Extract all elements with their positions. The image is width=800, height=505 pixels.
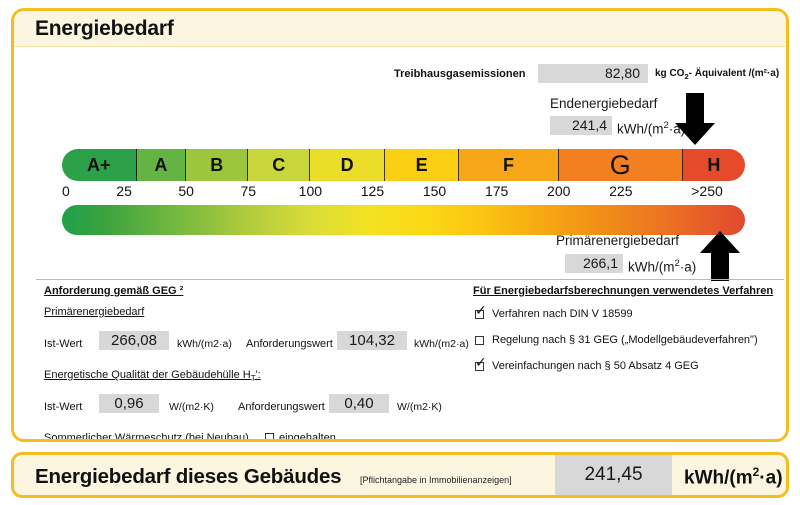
method-checkbox-1[interactable]: ✓ <box>475 310 484 319</box>
summary-value: 241,45 <box>555 455 672 495</box>
primary-energy-subheading: Primärenergiebedarf <box>44 306 144 318</box>
scale-band-letter: G <box>610 152 631 179</box>
method-option-label-1: Verfahren nach DIN V 18599 <box>492 308 633 320</box>
scale-band-letter: H <box>707 156 720 174</box>
scale-band-letter: A <box>154 156 167 174</box>
summary-title: Energiebedarf dieses Gebäudes <box>35 465 341 489</box>
envelope-actual-value: 0,96 <box>99 394 159 413</box>
primaerenergiebedarf-unit: kWh/(m2·a) <box>628 254 696 277</box>
page-title: Energiebedarf <box>35 17 174 41</box>
method-option-label-2: Regelung nach § 31 GEG („Modellgebäudeve… <box>492 334 758 346</box>
envelope-subheading-tail: ': <box>256 369 261 381</box>
arrow-up-icon <box>700 231 740 281</box>
summary-unit-main: kWh/(m <box>684 467 753 488</box>
scale-band-f: F <box>459 149 558 181</box>
envelope-actual-unit: W/(m2·K) <box>169 401 214 413</box>
method-option-label-3: Vereinfachungen nach § 50 Absatz 4 GEG <box>492 360 699 372</box>
scale-band-letter: C <box>272 156 285 174</box>
scale-band-letter: A+ <box>87 156 111 174</box>
scale-band-a: A <box>137 149 187 181</box>
ghg-unit-prefix: kg CO <box>655 68 684 79</box>
tick-label: 225 <box>609 183 632 199</box>
primary-actual-value: 266,08 <box>99 331 169 350</box>
envelope-subheading: Energetische Qualität der Gebäudehülle H… <box>44 369 261 383</box>
scale-band-letter: B <box>210 156 223 174</box>
summary-panel: Energiebedarf dieses Gebäudes [Pflichtan… <box>11 452 789 498</box>
primaerenergiebedarf-label: Primärenergiebedarf <box>556 233 679 248</box>
summer-protection-checkbox[interactable] <box>265 433 274 442</box>
primary-required-unit: kWh/(m2·a) <box>414 338 469 350</box>
envelope-required-unit: W/(m2·K) <box>397 401 442 413</box>
tick-label: 100 <box>299 183 322 199</box>
method-checkbox-3[interactable]: ✓ <box>475 362 484 371</box>
greenhouse-gas-label: Treibhausgasemissionen <box>394 68 525 80</box>
summary-note: [Pflichtangabe in Immobilienanzeigen] <box>360 475 512 485</box>
method-heading: Für Energiebedarfsberechnungen verwendet… <box>473 285 773 297</box>
scale-band-b: B <box>186 149 248 181</box>
tick-label: 25 <box>116 183 132 199</box>
greenhouse-gas-value: 82,80 <box>538 64 648 83</box>
summary-unit: kWh/(m2·a) <box>684 465 783 489</box>
summer-protection-label: Sommerlicher Wärmeschutz (bei Neubau) <box>44 432 249 442</box>
energiebedarf-panel: Energiebedarf Treibhausgasemissionen 82,… <box>11 8 789 442</box>
primaerenergiebedarf-value: 266,1 <box>565 254 623 273</box>
summer-protection-option: eingehalten <box>279 432 336 442</box>
tick-label: 0 <box>62 183 70 199</box>
scale-band-d: D <box>310 149 385 181</box>
primary-required-label: Anforderungswert <box>246 338 333 350</box>
scale-bands: A+ABCDEFGH <box>62 149 745 181</box>
check-icon: ✓ <box>475 356 487 370</box>
primary-required-value: 104,32 <box>337 331 407 350</box>
tick-label: 75 <box>240 183 256 199</box>
scale-band-aplus: A+ <box>62 149 137 181</box>
endenergiebedarf-label: Endenergiebedarf <box>550 96 657 111</box>
arrow-down-icon <box>675 93 715 145</box>
endenergiebedarf-value: 241,4 <box>550 116 612 135</box>
tick-label: 200 <box>547 183 570 199</box>
envelope-actual-label: Ist-Wert <box>44 401 82 413</box>
check-icon: ✓ <box>475 304 487 318</box>
tick-label: 175 <box>485 183 508 199</box>
energy-class-scale: A+ABCDEFGH <box>62 149 745 181</box>
envelope-required-value: 0,40 <box>329 394 389 413</box>
scale-band-g: G <box>559 149 683 181</box>
summary-unit-tail: ·a) <box>759 467 782 488</box>
requirements-heading: Anforderung gemäß GEG ² <box>44 285 183 297</box>
envelope-required-label: Anforderungswert <box>238 401 325 413</box>
scale-band-h: H <box>683 149 745 181</box>
primary-actual-label: Ist-Wert <box>44 338 82 350</box>
tick-label: 150 <box>423 183 446 199</box>
scale-band-letter: D <box>341 156 354 174</box>
scale-band-letter: F <box>503 156 514 174</box>
section-divider <box>36 279 784 280</box>
gradient-bar <box>62 205 745 235</box>
scale-band-letter: E <box>416 156 428 174</box>
greenhouse-gas-unit: kg CO2- Äquivalent /(m²·a) <box>655 68 779 81</box>
envelope-subheading-text: Energetische Qualität der Gebäudehülle H <box>44 369 251 381</box>
ghg-unit-suffix: - Äquivalent /(m²·a) <box>689 68 780 79</box>
scale-band-c: C <box>248 149 310 181</box>
scale-band-e: E <box>385 149 460 181</box>
primary-actual-unit: kWh/(m2·a) <box>177 338 232 350</box>
scale-tick-labels: 0255075100125150175200225>250 <box>62 183 745 201</box>
energy-certificate-page: Energiebedarf Treibhausgasemissionen 82,… <box>0 0 800 505</box>
tick-label: >250 <box>691 183 723 199</box>
tick-label: 50 <box>178 183 194 199</box>
tick-label: 125 <box>361 183 384 199</box>
method-checkbox-2[interactable] <box>475 336 484 345</box>
